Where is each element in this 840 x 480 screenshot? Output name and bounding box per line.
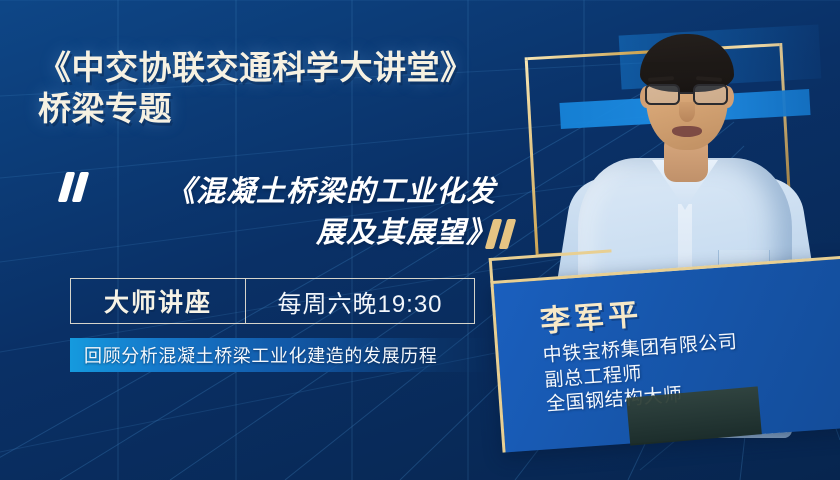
- page-title: 《中交协联交通科学大讲堂》 桥梁专题: [38, 48, 538, 130]
- lecture-badge: 大师讲座 每周六晚19:30: [70, 278, 475, 324]
- glasses-lens-left: [645, 84, 680, 105]
- glasses-bridge: [680, 92, 693, 94]
- badge-schedule: 每周六晚19:30: [277, 284, 442, 319]
- lecture-topic: 《混凝土桥梁的工业化发 展及其展望》: [86, 172, 496, 254]
- photo-mouth: [672, 126, 702, 137]
- glasses-lens-right: [693, 84, 728, 105]
- lecture-topic-line-1: 《混凝土桥梁的工业化发: [86, 172, 496, 213]
- badge-schedule-cell: 每周六晚19:30: [246, 279, 474, 323]
- badge-label: 大师讲座: [104, 283, 212, 319]
- headline-line-2: 桥梁专题: [38, 89, 538, 130]
- description-text: 回顾分析混凝土桥梁工业化建造的发展历程: [84, 342, 437, 368]
- headline-line-1: 《中交协联交通科学大讲堂》: [38, 49, 474, 86]
- photo-nose: [679, 102, 695, 122]
- description-strip: 回顾分析混凝土桥梁工业化建造的发展历程: [70, 338, 490, 372]
- lecture-topic-line-2: 展及其展望》: [86, 213, 496, 254]
- lecture-poster: 《中交协联交通科学大讲堂》 桥梁专题 《混凝土桥梁的工业化发 展及其展望》 大师…: [0, 0, 840, 480]
- badge-label-cell: 大师讲座: [71, 279, 246, 323]
